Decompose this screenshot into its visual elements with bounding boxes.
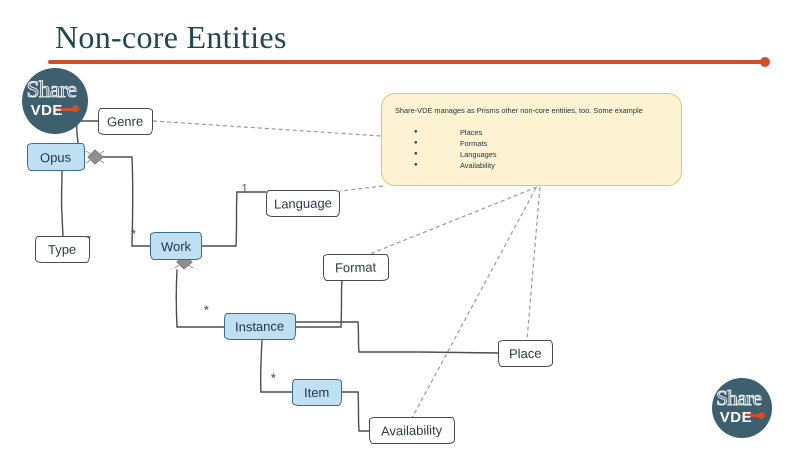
leader-genre xyxy=(153,121,381,136)
list-item: Languages xyxy=(414,149,497,160)
callout-text: Share-VDE manages as Prisms other non-co… xyxy=(395,107,673,116)
cardinality-label-many-3: * xyxy=(271,371,276,385)
entity-relationship-diagram xyxy=(0,0,800,450)
share-vde-logo-footer: Share VDE xyxy=(712,378,772,438)
logo-subtext: VDE xyxy=(720,409,752,426)
entity-node-availability[interactable]: Availability xyxy=(369,417,455,444)
logo-wordmark: Share xyxy=(27,77,77,103)
slide-canvas: Non-core Entities xyxy=(0,0,800,450)
entity-node-label: Format xyxy=(335,260,376,276)
list-item: Formats xyxy=(414,138,497,149)
entity-node-work[interactable]: Work xyxy=(150,232,202,260)
entity-node-format[interactable]: Format xyxy=(323,254,389,281)
callout-box: Share-VDE manages as Prisms other non-co… xyxy=(381,93,682,186)
leader-language xyxy=(340,186,383,191)
entity-node-label: Availability xyxy=(381,422,442,438)
entity-node-instance[interactable]: Instance xyxy=(224,313,296,340)
entity-node-opus[interactable]: Opus xyxy=(27,143,85,171)
logo-subtext: VDE xyxy=(31,102,63,119)
entity-node-label: Opus xyxy=(40,149,71,165)
entity-node-label: Type xyxy=(48,242,76,258)
entity-node-language[interactable]: Language xyxy=(266,190,340,217)
cardinality-label-many-1: * xyxy=(131,227,136,241)
entity-node-label: Genre xyxy=(107,114,143,130)
entity-node-label: Language xyxy=(274,195,332,211)
entity-node-item[interactable]: Item xyxy=(292,379,342,406)
leader-format xyxy=(360,187,537,258)
entity-node-type[interactable]: Type xyxy=(35,236,90,263)
logo-dot xyxy=(72,105,79,112)
logo-wordmark: Share xyxy=(716,386,761,411)
entity-node-label: Place xyxy=(509,346,542,362)
list-item: Availability xyxy=(414,160,497,171)
cardinality-label-many-2: * xyxy=(204,303,209,317)
share-vde-logo: Share VDE xyxy=(22,68,88,134)
callout-bullet-list: Places Formats Languages Availability xyxy=(414,127,497,171)
entity-node-genre[interactable]: Genre xyxy=(98,108,153,135)
leader-availability xyxy=(412,188,536,418)
leader-place xyxy=(527,187,540,340)
logo-dot xyxy=(758,412,765,419)
entity-node-label: Instance xyxy=(235,318,284,334)
entity-node-label: Work xyxy=(161,238,191,254)
entity-node-place[interactable]: Place xyxy=(498,340,553,367)
list-item: Places xyxy=(414,127,497,138)
entity-node-label: Item xyxy=(304,385,330,401)
cardinality-label-one-0: 1 xyxy=(241,181,248,196)
